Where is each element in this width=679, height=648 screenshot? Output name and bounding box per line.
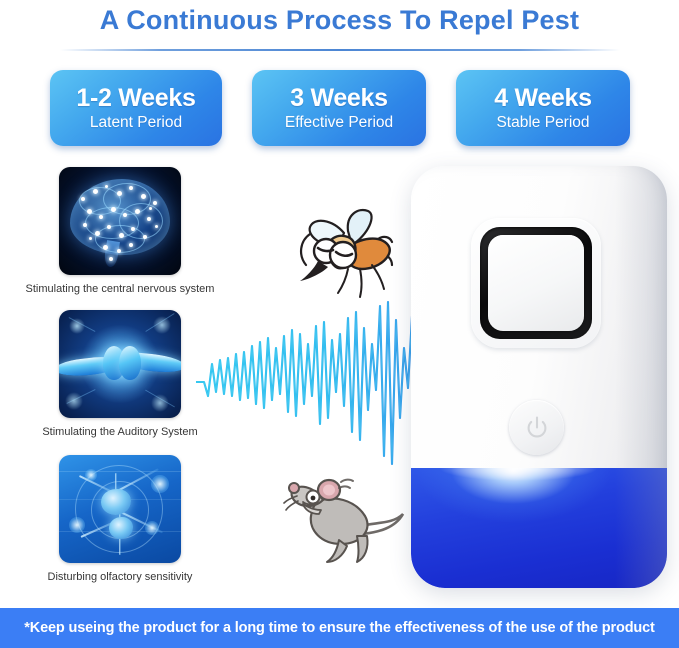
power-button[interactable] — [509, 400, 564, 455]
badge-period: Effective Period — [285, 113, 393, 133]
speaker-grille[interactable] — [488, 235, 584, 331]
footer-banner: *Keep useing the product for a long time… — [0, 608, 679, 648]
title-divider — [60, 49, 620, 51]
ultrasonic-pest-repeller — [411, 166, 667, 588]
ultrasonic-waveform — [196, 300, 436, 470]
infographic-page: A Continuous Process To Repel Pest 1-2 W… — [0, 0, 679, 648]
timeline-badge-effective: 3 Weeks Effective Period — [252, 70, 426, 146]
badge-weeks: 4 Weeks — [494, 84, 592, 112]
badge-period: Stable Period — [496, 113, 589, 133]
mouse-illustration — [283, 474, 411, 572]
mosquito-illustration — [288, 207, 410, 307]
badge-weeks: 3 Weeks — [290, 84, 388, 112]
neuron-network-image — [59, 455, 181, 563]
page-title: A Continuous Process To Repel Pest — [0, 2, 679, 38]
brain-neurons-image — [59, 167, 181, 275]
feature-olfactory-sensitivity: Disturbing olfactory sensitivity — [12, 455, 228, 584]
feature-caption: Disturbing olfactory sensitivity — [12, 570, 228, 584]
timeline-badge-latent: 1-2 Weeks Latent Period — [50, 70, 222, 146]
feature-caption: Stimulating the central nervous system — [12, 282, 228, 296]
timeline-badge-stable: 4 Weeks Stable Period — [456, 70, 630, 146]
power-icon — [522, 413, 552, 443]
footer-note: *Keep useing the product for a long time… — [24, 620, 654, 636]
nightlight-base — [411, 468, 667, 588]
badge-period: Latent Period — [90, 113, 182, 133]
feature-central-nervous-system: Stimulating the central nervous system — [12, 167, 228, 296]
badge-weeks: 1-2 Weeks — [76, 84, 195, 112]
nightlight-glow — [411, 468, 667, 484]
synapse-image — [59, 310, 181, 418]
